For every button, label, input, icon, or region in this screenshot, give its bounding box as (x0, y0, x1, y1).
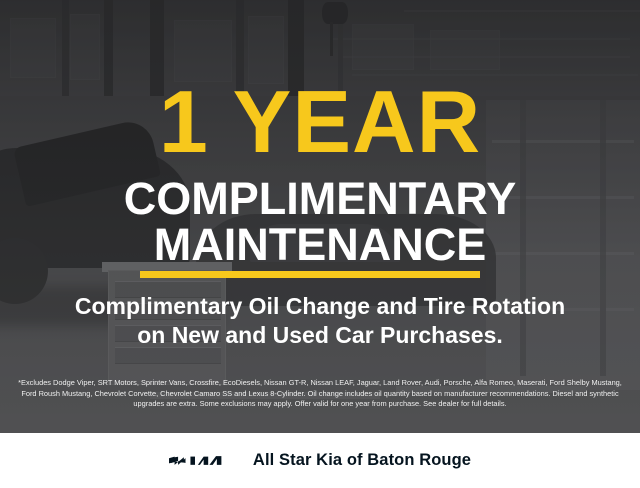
headline-year: 1 YEAR (0, 78, 640, 166)
offer-description-line-1: Complimentary Oil Change and Tire Rotati… (0, 293, 640, 319)
dealer-name: All Star Kia of Baton Rouge (253, 451, 471, 470)
disclaimer-text: *Excludes Dodge Viper, SRT Motors, Sprin… (14, 378, 626, 410)
banner-content: 1 YEAR COMPLIMENTARY MAINTENANCE Complim… (0, 0, 640, 433)
offer-description-line-2: on New and Used Car Purchases. (0, 322, 640, 348)
kia-logo-icon (169, 452, 235, 469)
headline-complimentary: COMPLIMENTARY (0, 176, 640, 221)
yellow-divider (140, 271, 480, 278)
headline-maintenance: MAINTENANCE (0, 222, 640, 267)
promo-banner: 1 YEAR COMPLIMENTARY MAINTENANCE Complim… (0, 0, 640, 488)
footer-bar: All Star Kia of Baton Rouge (0, 433, 640, 488)
